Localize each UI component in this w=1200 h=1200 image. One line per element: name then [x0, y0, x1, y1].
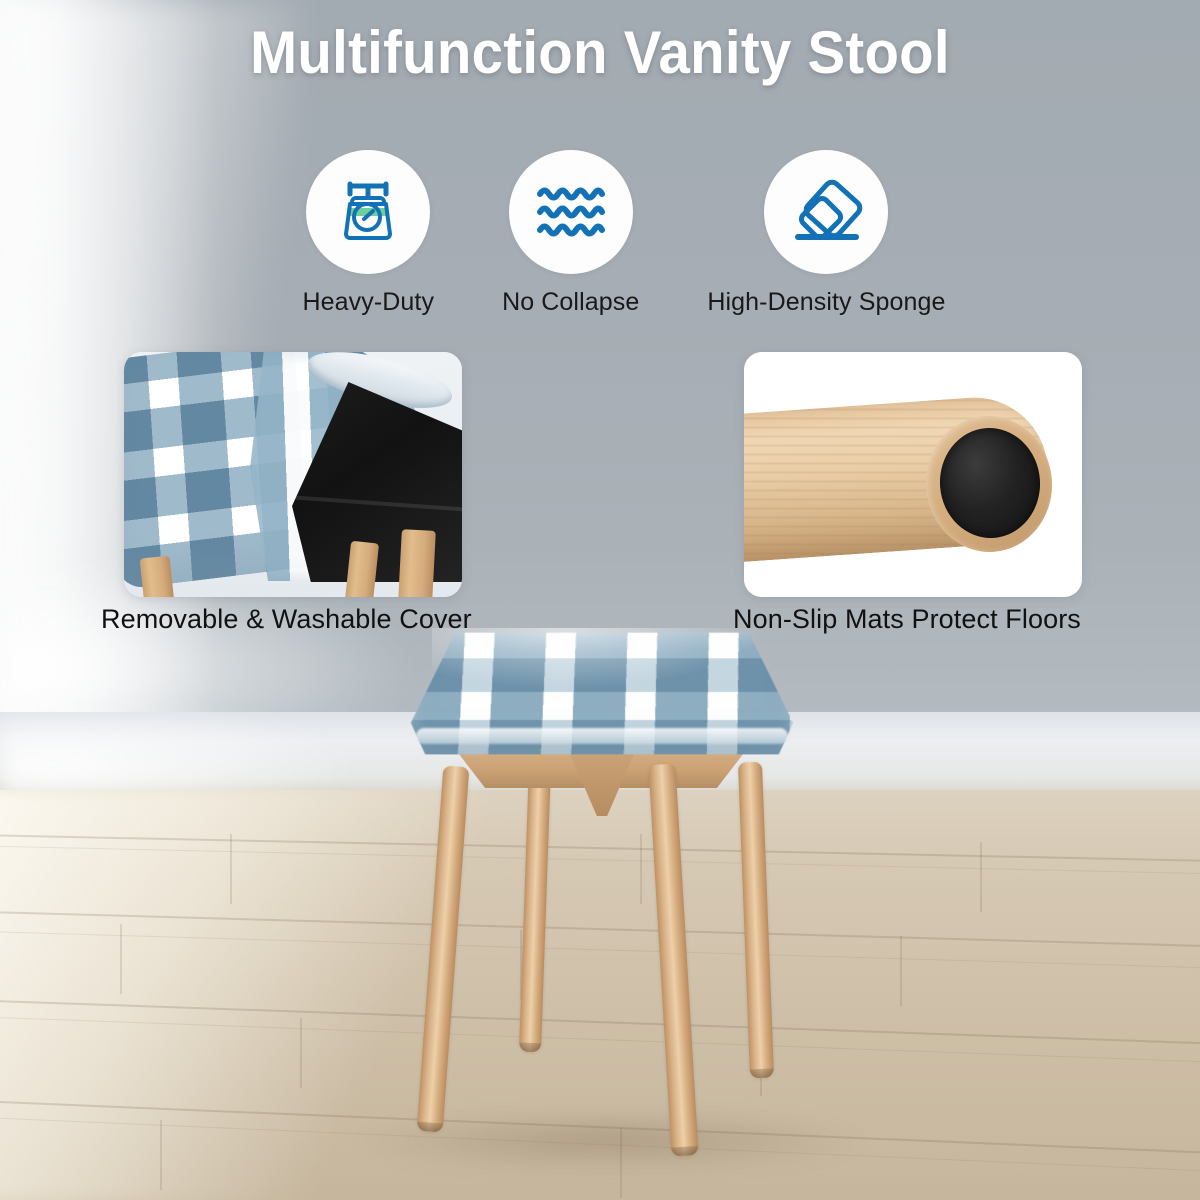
stool-leg-back-left [519, 764, 551, 1053]
page-title: Multifunction Vanity Stool [36, 18, 1164, 87]
wood-leg [398, 529, 436, 597]
feature-badge-circle [306, 150, 430, 274]
product-stool-photo [392, 624, 812, 1144]
inset-photo-non-slip-mat [744, 352, 1082, 597]
feature-badge-circle [764, 150, 888, 274]
feature-badge-row: Heavy-Duty No Collapse [0, 150, 1200, 317]
inset-photo-removable-cover [124, 352, 462, 597]
leg-detail-photo [744, 352, 1082, 597]
wavy-springs-icon [531, 172, 611, 252]
feature-badge-circle [509, 150, 633, 274]
stool-leg-front-right [648, 764, 698, 1157]
feature-label: No Collapse [502, 288, 639, 317]
stool-leg-back-right [738, 762, 774, 1079]
seat-piping [416, 728, 788, 744]
stool-leg-front-left [417, 766, 470, 1133]
wood-leg [345, 541, 379, 597]
feature-no-collapse: No Collapse [502, 150, 639, 317]
cover-detail-photo [124, 352, 462, 597]
wood-leg [140, 556, 175, 597]
product-poster: Multifunction Vanity Stool [0, 0, 1200, 1200]
feature-label: Heavy-Duty [302, 288, 434, 317]
sponge-eraser-icon [786, 172, 866, 252]
kitchen-scale-icon [328, 172, 408, 252]
feature-label: High-Density Sponge [707, 288, 945, 317]
feature-high-density-sponge: High-Density Sponge [707, 150, 945, 317]
feature-heavy-duty: Heavy-Duty [302, 150, 434, 317]
